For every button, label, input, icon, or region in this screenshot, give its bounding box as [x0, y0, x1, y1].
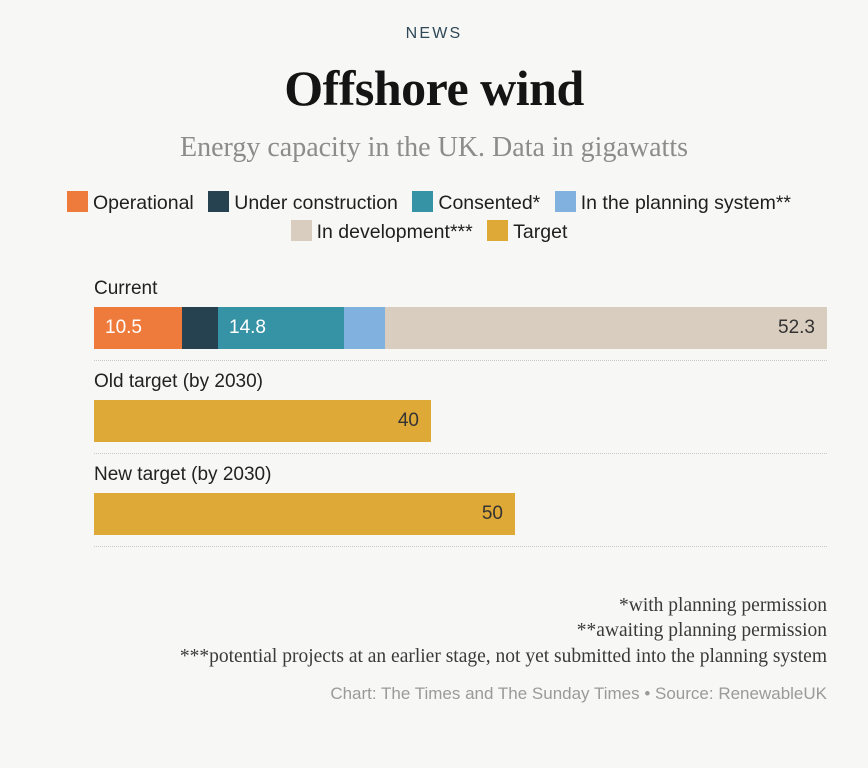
legend-label-planning: In the planning system**: [581, 192, 791, 214]
legend-label-under_construction: Under construction: [234, 192, 398, 214]
bar-row: Current10.514.852.3: [94, 268, 827, 361]
bar-row-label: New target (by 2030): [94, 454, 827, 493]
footnote-1: *with planning permission: [41, 593, 827, 619]
footnote-3: ***potential projects at an earlier stag…: [41, 644, 827, 670]
stacked-bar[interactable]: 40: [94, 400, 431, 442]
legend-swatch-development: [291, 220, 312, 241]
legend-label-consented: Consented*: [438, 192, 540, 214]
credit-line: Chart: The Times and The Sunday Times • …: [41, 684, 827, 704]
chart-bars: Current10.514.852.3Old target (by 2030)4…: [0, 268, 868, 547]
legend-swatch-operational: [67, 191, 88, 212]
bar-segment-consented[interactable]: 14.8: [218, 307, 344, 349]
footnote-2: **awaiting planning permission: [41, 618, 827, 644]
bar-segment-target[interactable]: [94, 400, 431, 442]
footnotes: *with planning permission**awaiting plan…: [41, 593, 827, 671]
bar-segment-target[interactable]: [94, 493, 515, 535]
bar-track: 50: [94, 493, 827, 535]
bar-row-label: Current: [94, 268, 827, 307]
legend-item-under_construction[interactable]: Under construction: [208, 192, 398, 214]
legend-label-target: Target: [513, 221, 567, 243]
bar-total-value: 52.3: [778, 307, 815, 349]
stacked-bar[interactable]: 50: [94, 493, 515, 535]
bar-segment-under_construction[interactable]: [182, 307, 218, 349]
bar-track: 40: [94, 400, 827, 442]
bar-segment-development[interactable]: [385, 307, 827, 349]
legend-swatch-consented: [412, 191, 433, 212]
legend-item-operational[interactable]: Operational: [67, 192, 194, 214]
legend-item-planning[interactable]: In the planning system**: [555, 192, 791, 214]
page-subtitle: Energy capacity in the UK. Data in gigaw…: [0, 133, 868, 164]
bar-total-value: 40: [398, 400, 419, 442]
legend-label-operational: Operational: [93, 192, 194, 214]
bar-segment-operational[interactable]: 10.5: [94, 307, 182, 349]
legend-swatch-planning: [555, 191, 576, 212]
legend-label-development: In development***: [317, 221, 473, 243]
row-separator: [94, 546, 827, 547]
bar-segment-value: 10.5: [94, 317, 142, 339]
bar-row: New target (by 2030)50: [94, 454, 827, 547]
bar-row-label: Old target (by 2030): [94, 361, 827, 400]
stacked-bar[interactable]: 10.514.852.3: [94, 307, 827, 349]
legend-swatch-under_construction: [208, 191, 229, 212]
bar-segment-planning[interactable]: [344, 307, 385, 349]
legend-item-target[interactable]: Target: [487, 221, 567, 243]
bar-track: 10.514.852.3: [94, 307, 827, 349]
chart-canvas: NEWS Offshore wind Energy capacity in th…: [0, 0, 868, 768]
page-title: Offshore wind: [0, 62, 868, 115]
bar-row: Old target (by 2030)40: [94, 361, 827, 454]
bar-total-value: 50: [482, 493, 503, 535]
legend-item-development[interactable]: In development***: [291, 221, 473, 243]
bar-segment-value: 14.8: [218, 317, 266, 339]
legend-swatch-target: [487, 220, 508, 241]
chart-legend: Operational Under construction Consented…: [46, 189, 822, 246]
legend-item-consented[interactable]: Consented*: [412, 192, 540, 214]
kicker-news: NEWS: [0, 0, 868, 42]
